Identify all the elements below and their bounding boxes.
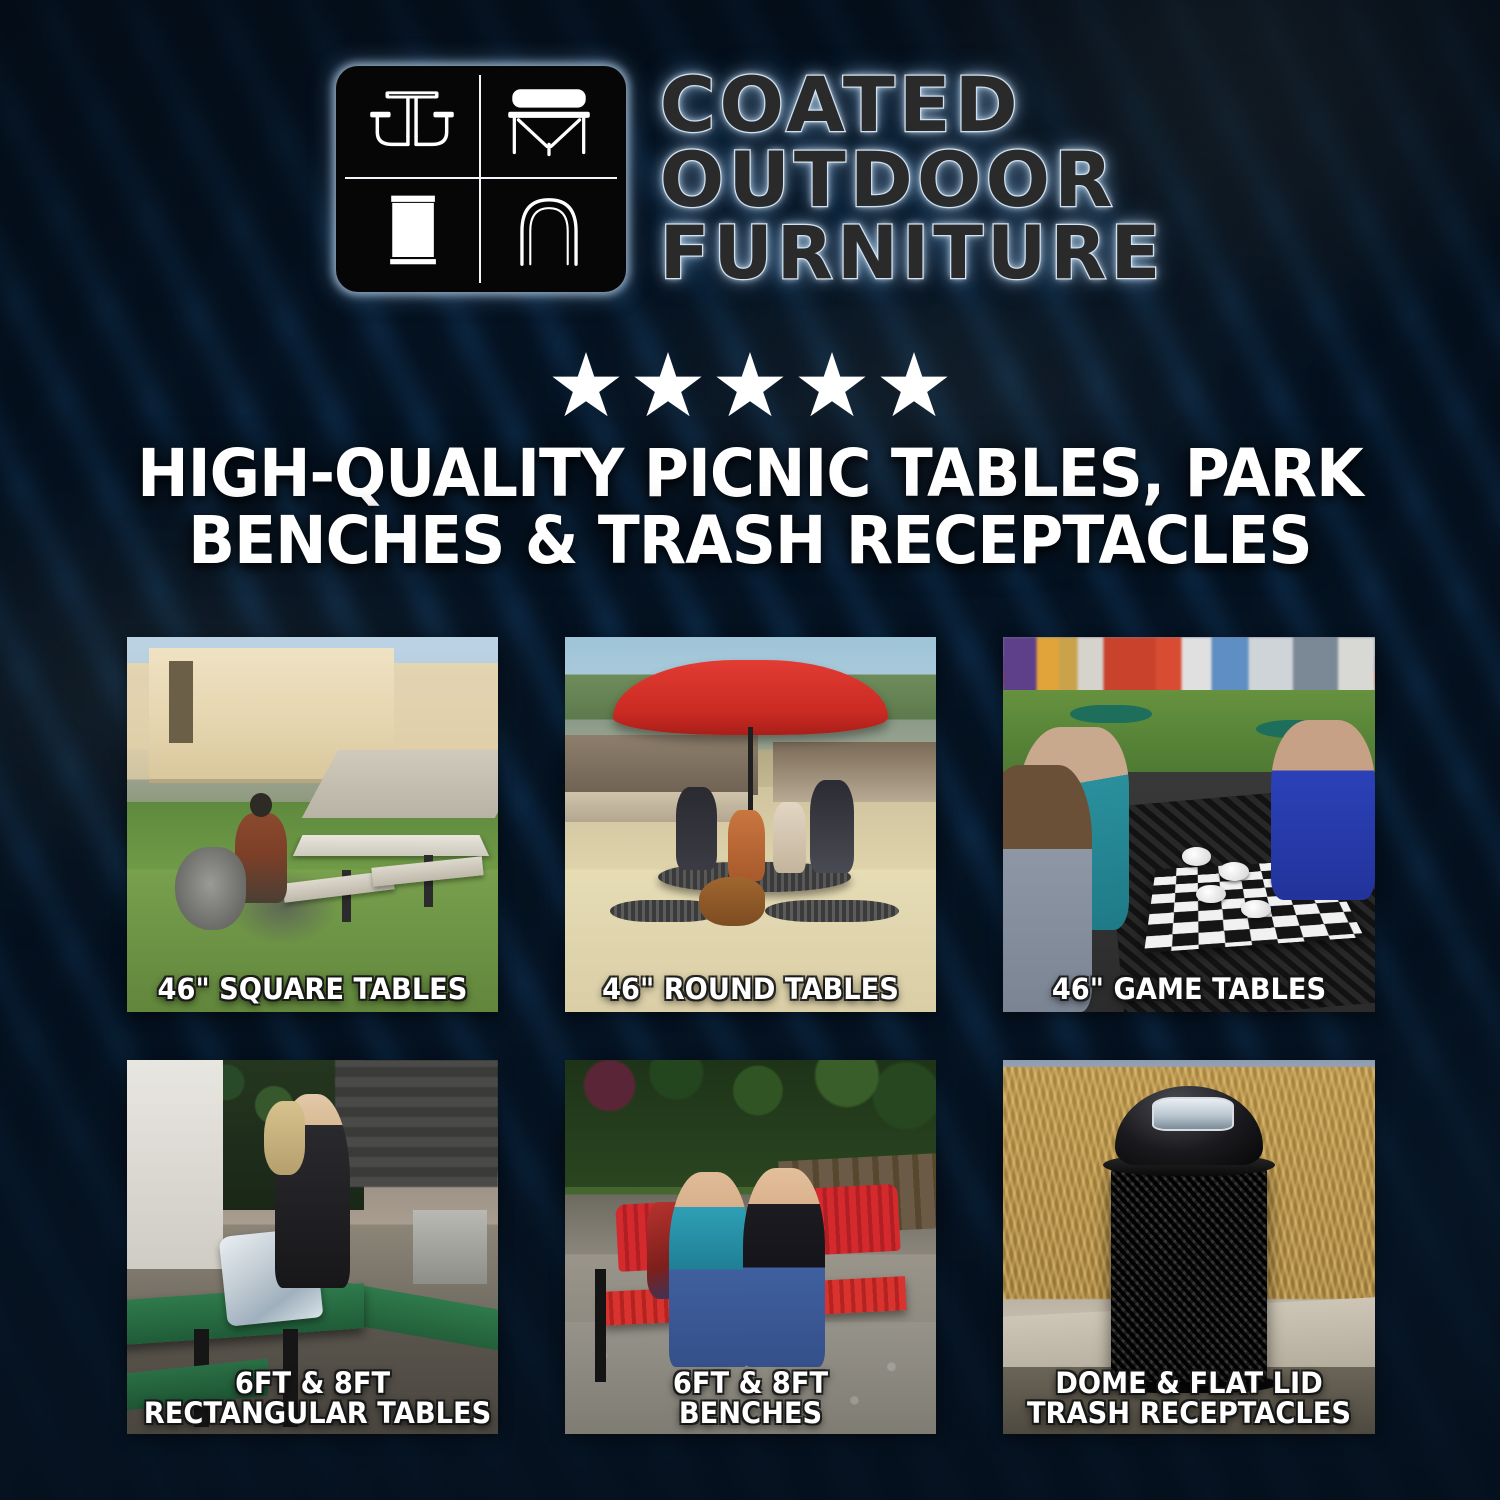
headline-line-2: BENCHES & TRASH RECEPTACLES <box>108 507 1391 574</box>
star-icon <box>715 352 785 422</box>
promo-banner: COATED OUTDOOR FURNITURE HIGH-QUALITY PI… <box>0 0 1500 1500</box>
product-category-grid: 46" SQUARE TABLES 46" ROUND TABLES <box>127 637 1375 1434</box>
logo-mark <box>336 66 626 292</box>
tile-caption-line: 46" GAME TABLES <box>1020 974 1358 1004</box>
tile-caption-line: 46" SQUARE TABLES <box>144 974 481 1004</box>
brand-line-3: FURNITURE <box>660 219 1165 289</box>
tile-caption: 6FT & 8FT BENCHES <box>576 1368 925 1428</box>
tile-caption: 46" SQUARE TABLES <box>138 974 487 1004</box>
star-icon <box>879 352 949 422</box>
square-tables-photo <box>127 637 498 1012</box>
tile-caption: 46" ROUND TABLES <box>576 974 925 1004</box>
tile-caption-line: 6FT & 8FT <box>144 1368 481 1398</box>
park-bench-icon <box>481 75 617 179</box>
trash-receptacle-flat-lid-icon <box>345 179 481 283</box>
product-tile-square-tables[interactable]: 46" SQUARE TABLES <box>127 637 498 1012</box>
round-tables-photo <box>565 637 936 1012</box>
headline-line-1: HIGH-QUALITY PICNIC TABLES, PARK <box>108 440 1391 507</box>
product-tile-round-tables[interactable]: 46" ROUND TABLES <box>565 637 936 1012</box>
product-tile-benches[interactable]: 6FT & 8FT BENCHES <box>565 1060 936 1434</box>
product-tile-trash-receptacles[interactable]: DOME & FLAT LID TRASH RECEPTACLES <box>1003 1060 1375 1434</box>
brand-line-2: OUTDOOR <box>660 144 1165 217</box>
page-title: HIGH-QUALITY PICNIC TABLES, PARK BENCHES… <box>108 440 1391 575</box>
star-icon <box>633 352 703 422</box>
brand-header: COATED OUTDOOR FURNITURE <box>0 66 1500 292</box>
product-tile-game-tables[interactable]: 46" GAME TABLES <box>1003 637 1375 1012</box>
star-icon <box>551 352 621 422</box>
picnic-table-icon <box>345 75 481 179</box>
tile-caption-line: 46" ROUND TABLES <box>582 974 919 1004</box>
brand-line-1: COATED <box>660 69 1165 142</box>
tile-caption-line: RECTANGULAR TABLES <box>144 1398 481 1428</box>
tile-caption-line: DOME & FLAT LID <box>1020 1368 1358 1398</box>
tile-caption-line: 6FT & 8FT <box>582 1368 919 1398</box>
tile-caption-line: BENCHES <box>582 1398 919 1428</box>
trash-receptacle-dome-lid-icon <box>481 179 617 283</box>
tile-caption-line: TRASH RECEPTACLES <box>1020 1398 1358 1428</box>
tile-caption: 46" GAME TABLES <box>1014 974 1364 1004</box>
tile-caption: DOME & FLAT LID TRASH RECEPTACLES <box>1014 1368 1364 1428</box>
star-rating <box>0 352 1500 422</box>
product-tile-rectangular-tables[interactable]: 6FT & 8FT RECTANGULAR TABLES <box>127 1060 498 1434</box>
game-tables-photo <box>1003 637 1375 1012</box>
star-icon <box>797 352 867 422</box>
tile-caption: 6FT & 8FT RECTANGULAR TABLES <box>138 1368 487 1428</box>
brand-wordmark: COATED OUTDOOR FURNITURE <box>660 69 1165 289</box>
